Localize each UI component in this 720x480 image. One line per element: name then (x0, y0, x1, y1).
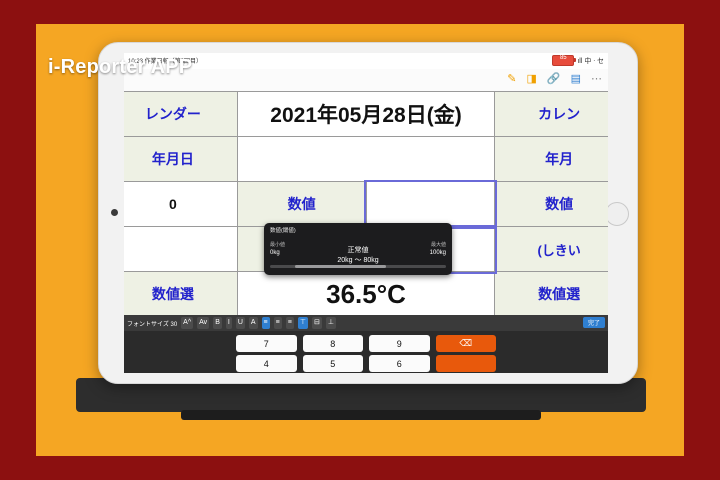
screenshot-stage: 10:23 作業日報（第3回目） 85 ıll 中 ᐧ セ ✎ ◨ 🔗 ▤ ⋯ (0, 0, 720, 480)
app-toolbar-icons: ✎ ◨ 🔗 ▤ ⋯ (507, 72, 602, 86)
format-toolbar: フォントサイズ 30 A^ Av B I U A ≡ ≡ ≡ ⊤ ⊟ ⊥ 完了 (124, 315, 608, 331)
tablet-stand-foot (181, 410, 541, 420)
left-red-band (0, 0, 36, 480)
more-icon[interactable]: ⋯ (591, 72, 602, 86)
valign-bottom-button[interactable]: ⊥ (326, 317, 336, 329)
font-size-label: フォントサイズ 30 (127, 319, 177, 328)
italic-button[interactable]: I (226, 317, 232, 329)
backspace-icon[interactable]: ⌫ (436, 335, 497, 352)
numeric-keypad: 7 8 9 ⌫ 4 5 6 (124, 331, 608, 373)
cell-numeric-right[interactable]: 数値 (495, 182, 608, 227)
done-button[interactable]: 完了 (583, 317, 605, 328)
link-icon[interactable]: 🔗 (547, 72, 561, 86)
cell-ymd-right[interactable]: 年月 (495, 137, 608, 182)
align-right-button[interactable]: ≡ (286, 317, 294, 329)
signal-icon: ıll 中 ᐧ セ (577, 56, 604, 66)
home-button[interactable] (605, 202, 629, 226)
cell-numeric-left[interactable]: 数値 (237, 182, 366, 227)
threshold-min-label: 最小値 (270, 241, 285, 248)
key-blank[interactable] (436, 355, 497, 372)
cell-numeric-select-right[interactable]: 数値選 (495, 272, 608, 317)
tablet-screen: 10:23 作業日報（第3回目） 85 ıll 中 ᐧ セ ✎ ◨ 🔗 ▤ ⋯ (124, 53, 608, 373)
cell-temperature-value[interactable]: 36.5°C (237, 272, 495, 317)
cell-date-blank[interactable] (237, 137, 495, 182)
key-4[interactable]: 4 (236, 355, 297, 372)
app-toolbar: ✎ ◨ 🔗 ▤ ⋯ (124, 69, 608, 92)
threshold-max-value: 100kg (430, 250, 446, 256)
right-red-band (684, 0, 720, 480)
form-sheet: レンダー 2021年05月28日(金) カレン 年月日 年月 0 数値 数値 (124, 91, 608, 331)
align-left-button[interactable]: ≡ (262, 317, 270, 329)
keypad-row-1: 7 8 9 ⌫ (236, 335, 496, 352)
threshold-popup: 数値(閾値) 最小値 0kg 最大値 100kg 正常値 20kg ～ 80kg (264, 223, 452, 275)
cell-calendar-right[interactable]: カレン (495, 92, 608, 137)
battery-level-text: 85 (553, 55, 573, 61)
keypad-row-2: 4 5 6 (236, 355, 496, 372)
cell-date-value[interactable]: 2021年05月28日(金) (237, 92, 495, 137)
tablet-device: 10:23 作業日報（第3回目） 85 ıll 中 ᐧ セ ✎ ◨ 🔗 ▤ ⋯ (98, 42, 638, 384)
key-7[interactable]: 7 (236, 335, 297, 352)
table-row: レンダー 2021年05月28日(金) カレン (124, 92, 608, 137)
text-color-button[interactable]: A (249, 317, 258, 329)
font-increase-button[interactable]: A^ (181, 317, 193, 329)
key-5[interactable]: 5 (303, 355, 364, 372)
cell-numeric-select-left[interactable]: 数値選 (124, 272, 237, 317)
underline-button[interactable]: U (236, 317, 245, 329)
table-row: 数値選 36.5°C 数値選 (124, 272, 608, 317)
threshold-range-bar (270, 265, 446, 268)
key-6[interactable]: 6 (369, 355, 430, 372)
threshold-max-label: 最大値 (431, 241, 446, 248)
cell-numeric-input-selected[interactable] (366, 182, 495, 227)
valign-top-button[interactable]: ⊤ (298, 317, 308, 329)
page-title: i-Reporter APP (48, 56, 192, 79)
cell-threshold-right[interactable]: (しきい (495, 227, 608, 272)
status-bar-right-group: 85 ıll 中 ᐧ セ (552, 55, 604, 66)
threshold-popup-title: 数値(閾値) (270, 226, 296, 234)
bold-button[interactable]: B (213, 317, 222, 329)
key-8[interactable]: 8 (303, 335, 364, 352)
ios-status-bar: 10:23 作業日報（第3回目） 85 ıll 中 ᐧ セ (124, 53, 608, 69)
cell-blank-left[interactable] (124, 227, 237, 272)
align-center-button[interactable]: ≡ (274, 317, 282, 329)
cell-zero-value[interactable]: 0 (124, 182, 237, 227)
front-camera-icon (111, 209, 118, 216)
pencil-icon[interactable]: ✎ (507, 72, 516, 86)
font-decrease-button[interactable]: Av (197, 317, 209, 329)
threshold-normal-range: 20kg ～ 80kg (337, 255, 378, 265)
table-row: 0 数値 数値 (124, 182, 608, 227)
eraser-icon[interactable]: ◨ (526, 72, 536, 86)
key-9[interactable]: 9 (369, 335, 430, 352)
threshold-normal-label: 正常値 (348, 245, 369, 255)
battery-icon: 85 (552, 55, 574, 66)
top-red-band (0, 0, 720, 24)
valign-middle-button[interactable]: ⊟ (312, 317, 322, 329)
table-row: 年月日 年月 (124, 137, 608, 182)
cell-ymd-left[interactable]: 年月日 (124, 137, 237, 182)
bottom-red-band (0, 456, 720, 480)
monitor-icon[interactable]: ▤ (571, 72, 581, 86)
threshold-range-fill (295, 265, 387, 268)
threshold-min-value: 0kg (270, 250, 280, 256)
cell-calendar-left[interactable]: レンダー (124, 92, 237, 137)
